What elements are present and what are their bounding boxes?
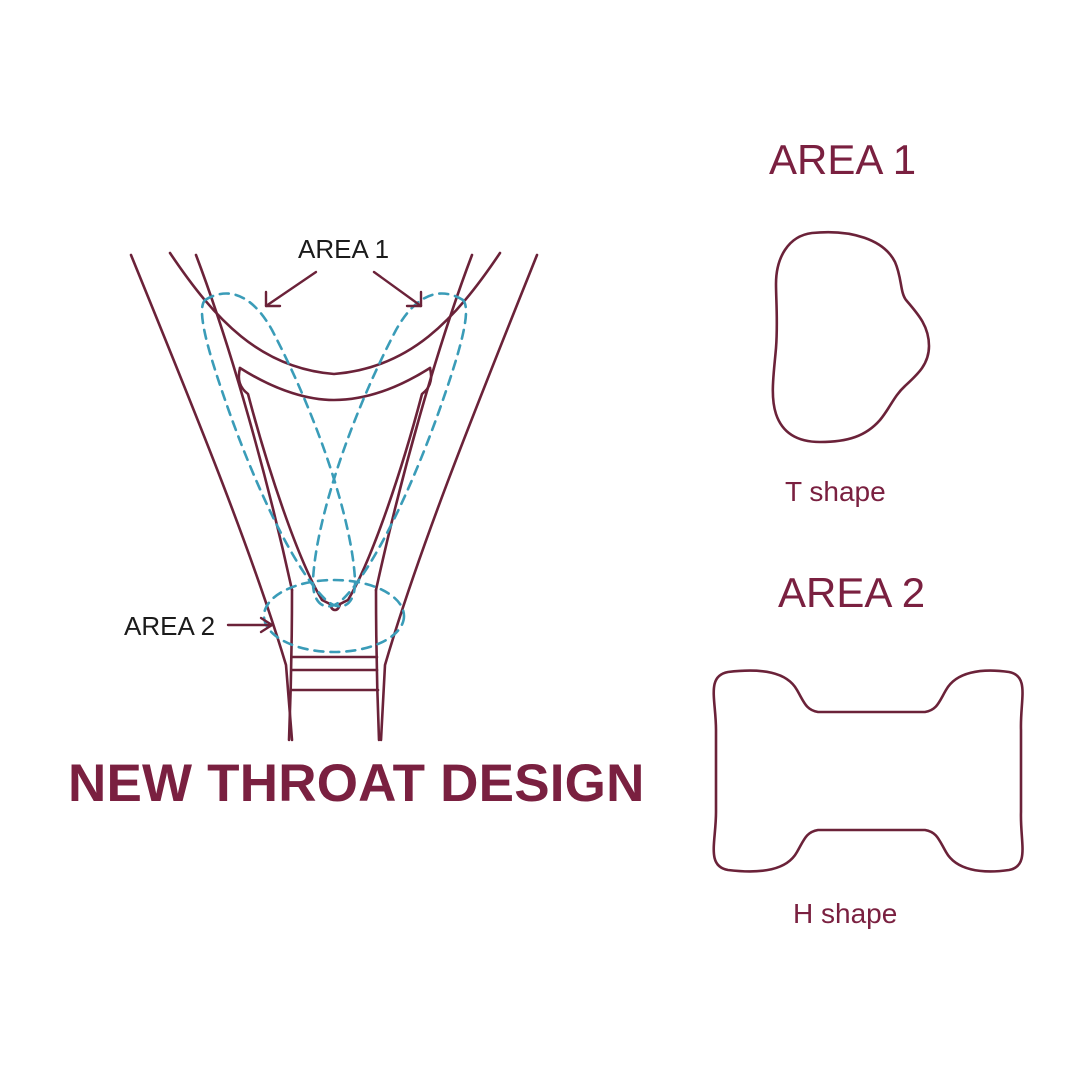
- page-title: NEW THROAT DESIGN: [68, 757, 645, 810]
- panel-heading-area1: AREA 1: [769, 139, 916, 181]
- t-shape-outline: [773, 232, 929, 442]
- panel-heading-area2: AREA 2: [778, 572, 925, 614]
- h-shape-outline: [714, 671, 1023, 872]
- diagram-callout-label-area1: AREA 1: [298, 236, 389, 262]
- panel-caption-area2: H shape: [793, 900, 897, 928]
- panel-caption-area1: T shape: [785, 478, 886, 506]
- diagram-canvas: NEW THROAT DESIGN AREA 1 AREA 2 AREA 1 T…: [0, 0, 1080, 1080]
- pattern-shapes-svg: [0, 0, 1080, 1080]
- diagram-callout-label-area2: AREA 2: [124, 613, 215, 639]
